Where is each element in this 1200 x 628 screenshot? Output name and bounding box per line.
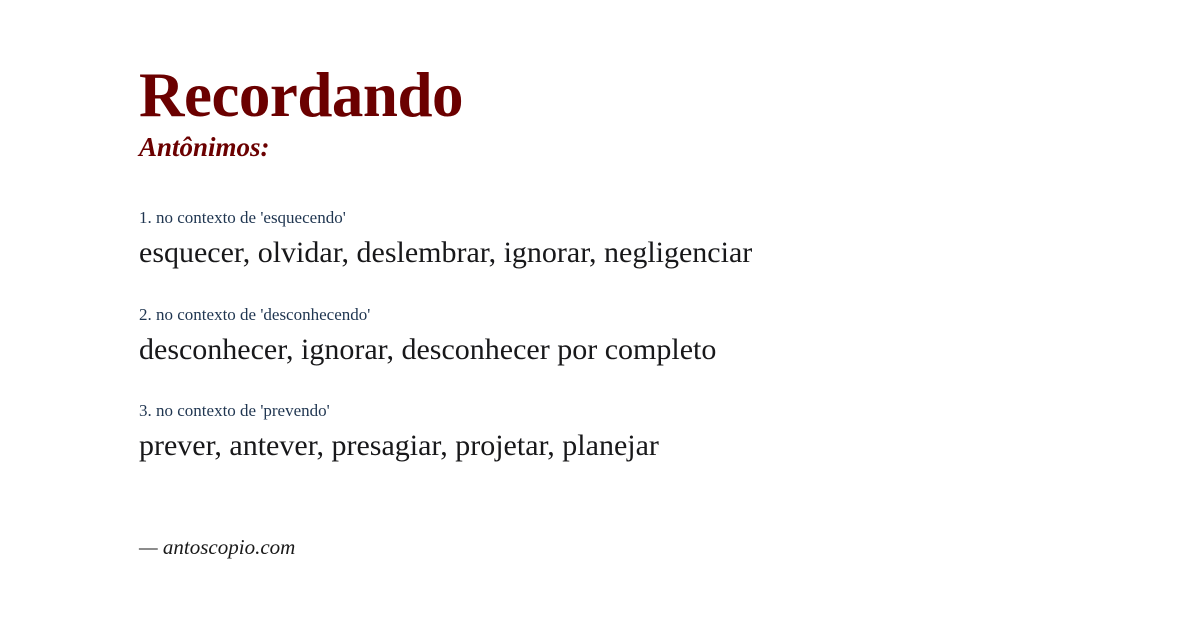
entry-antonyms: desconhecer, ignorar, desconhecer por co… <box>139 331 1159 369</box>
entry-antonyms: esquecer, olvidar, deslembrar, ignorar, … <box>139 234 1159 272</box>
entry-antonyms: prever, antever, presagiar, projetar, pl… <box>139 427 1159 465</box>
entry-context-label: 3. no contexto de 'prevendo' <box>139 400 1159 422</box>
list-item: 1. no contexto de 'esquecendo' esquecer,… <box>139 207 1159 272</box>
antonyms-card: Recordando Antônimos: 1. no contexto de … <box>0 0 1200 628</box>
entry-context-label: 2. no contexto de 'desconhecendo' <box>139 304 1159 326</box>
source-attribution: — antoscopio.com <box>139 534 295 561</box>
entry-context-label: 1. no contexto de 'esquecendo' <box>139 207 1159 229</box>
page-subtitle: Antônimos: <box>139 133 270 163</box>
list-item: 3. no contexto de 'prevendo' prever, ant… <box>139 400 1159 465</box>
page-title: Recordando <box>139 62 463 128</box>
antonym-entry-list: 1. no contexto de 'esquecendo' esquecer,… <box>139 207 1159 465</box>
list-item: 2. no contexto de 'desconhecendo' descon… <box>139 304 1159 369</box>
